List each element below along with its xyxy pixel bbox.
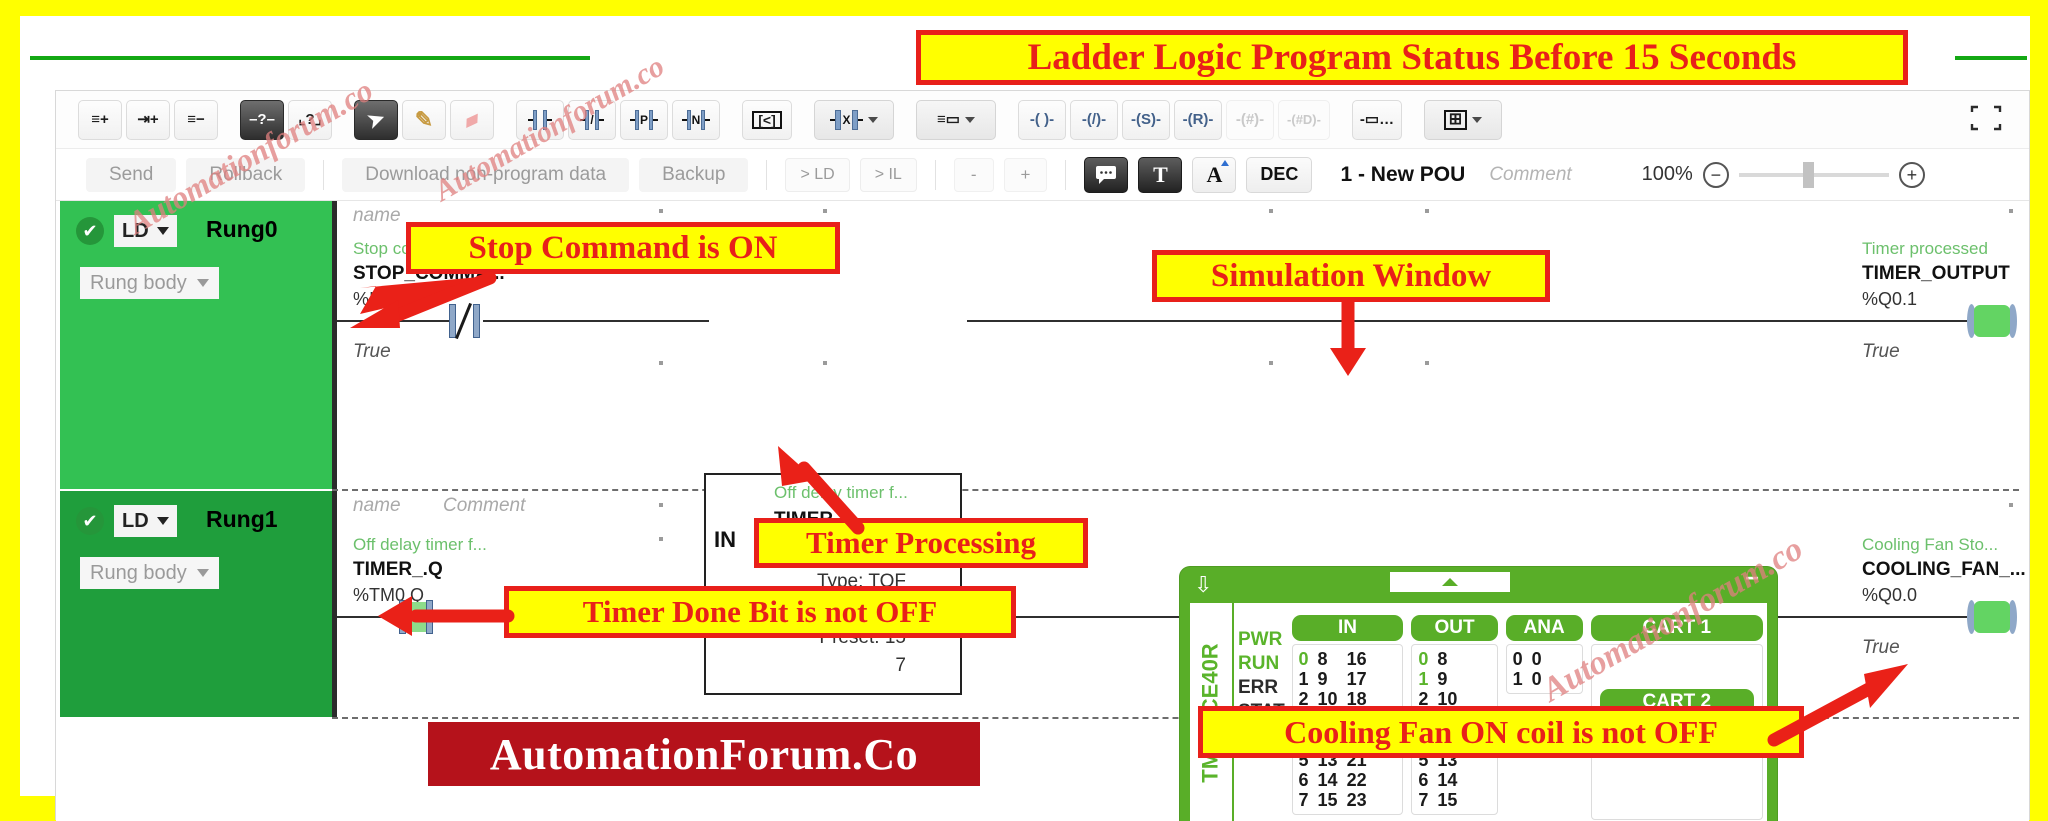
- top-divider-left: [30, 56, 590, 60]
- grid-tick: [659, 503, 663, 507]
- zoom-level-label: 100%: [1642, 163, 1693, 186]
- led-err: ERR: [1238, 677, 1288, 699]
- rung-name-0: Rung0: [206, 216, 278, 243]
- comment-bubble-glyph: [1095, 165, 1117, 185]
- convert-to-ld-button[interactable]: > LD: [785, 158, 849, 192]
- annotation-cooling-fan: Cooling Fan ON coil is not OFF: [1198, 706, 1804, 758]
- rung1-output-state: True: [1862, 637, 1900, 659]
- rung0-wire-left: [337, 320, 449, 322]
- comment-bubble-icon[interactable]: [1084, 157, 1128, 193]
- top-divider-right: [1955, 56, 2027, 60]
- zoom-slider-thumb[interactable]: [1803, 162, 1814, 188]
- in-bit-0[interactable]: 0: [1299, 649, 1309, 669]
- grid-tick: [659, 537, 663, 541]
- select-pointer-glyph: ➤: [365, 107, 388, 132]
- in-bit-23[interactable]: 23: [1347, 790, 1367, 810]
- insert-rung-above-icon[interactable]: ≡+: [78, 100, 122, 140]
- grid-tick: [823, 209, 827, 213]
- rung0-contact-nc[interactable]: [449, 304, 483, 338]
- out-bit-0[interactable]: 0: [1418, 649, 1428, 669]
- toolbar-separator-4: [1065, 160, 1066, 190]
- in-bit-17[interactable]: 17: [1347, 669, 1367, 689]
- out-bit-7[interactable]: 7: [1418, 790, 1428, 810]
- zoom-out-button[interactable]: −: [1703, 162, 1729, 188]
- comparison-block-icon[interactable]: [<]: [742, 100, 792, 140]
- application-canvas: ≡+ ⇥+ ≡− –?– ⌞?⌟ ➤ ✎ ▰: [20, 16, 2030, 796]
- rung-body-selector-1[interactable]: Rung body: [80, 557, 219, 589]
- rung1-output-description: Cooling Fan Sto...: [1862, 535, 1998, 555]
- rung-body-selector-0[interactable]: Rung body: [80, 267, 219, 299]
- contact-variants-dropdown-icon[interactable]: X: [814, 100, 894, 140]
- font-size-icon[interactable]: A: [1192, 157, 1236, 193]
- chevron-down-icon-2[interactable]: [965, 117, 975, 123]
- operation-block-glyph: -▭…: [1360, 112, 1394, 127]
- operation-block-icon[interactable]: -▭…: [1352, 100, 1402, 140]
- rung1-input-symbol: TIMER_.Q: [353, 559, 443, 581]
- rung0-output-description: Timer processed: [1862, 239, 1988, 259]
- timer-description: Off delay timer f...: [774, 483, 908, 503]
- delete-rung-glyph: ≡−: [187, 112, 205, 127]
- annotation-stop-command: Stop Command is ON: [406, 222, 840, 274]
- out-bit-14[interactable]: 14: [1437, 770, 1457, 790]
- coil-set-icon[interactable]: -(S)-: [1122, 100, 1170, 140]
- rung-body-label-0: Rung body: [90, 272, 187, 295]
- out-bit-15[interactable]: 15: [1437, 790, 1457, 810]
- function-block-dropdown-icon[interactable]: ≡▭: [916, 100, 996, 140]
- grid-tick: [659, 361, 663, 365]
- coil-set-glyph: -(S)-: [1131, 112, 1161, 127]
- chevron-down-icon-rungbody1[interactable]: [197, 569, 209, 577]
- collapse-up-glyph: [1442, 578, 1458, 586]
- fullscreen-icon[interactable]: [1969, 103, 2003, 133]
- coil-jump-icon: -(#)-: [1226, 100, 1274, 140]
- coil-icon[interactable]: -( )-: [1018, 100, 1066, 140]
- annotation-simulation-window: Simulation Window: [1152, 250, 1550, 302]
- toolbar-separator-3: [935, 160, 936, 190]
- rung1-output-coil[interactable]: [1967, 600, 2017, 634]
- coil-negated-glyph: -(/)-: [1082, 112, 1106, 127]
- rung0-input-state: True: [353, 341, 391, 363]
- rung-header-1[interactable]: ✔ LD Rung1 Rung body: [60, 491, 332, 717]
- font-size-glyph: A: [1206, 162, 1222, 188]
- coil-call-icon: -(#D)-: [1278, 100, 1330, 140]
- contact-positive-edge-icon[interactable]: P: [620, 100, 668, 140]
- delete-rung-icon[interactable]: ≡−: [174, 100, 218, 140]
- contact-n-glyph: N: [682, 110, 711, 130]
- grid-tick: [2009, 503, 2013, 507]
- timer-in-pin-label: IN: [714, 527, 736, 553]
- rung1-output-address: %Q0.0: [1862, 585, 1917, 606]
- io-column-out-header: OUT: [1411, 615, 1497, 641]
- toolbar-separator-1: [323, 160, 324, 190]
- eraser-icon[interactable]: ▰: [450, 100, 494, 140]
- timer-function-block[interactable]: IN Q Off delay timer f... TIMER_ %TM0 Ty…: [704, 473, 962, 695]
- annotation-timer-processing: Timer Processing: [754, 518, 1088, 568]
- add-element-glyph: ⊞: [1444, 110, 1467, 130]
- coil-call-glyph: -(#D)-: [1287, 113, 1321, 126]
- coil-reset-glyph: -(R)-: [1183, 112, 1214, 127]
- zoom-in-button[interactable]: +: [1899, 162, 1925, 188]
- pencil-draw-icon[interactable]: ✎: [402, 100, 446, 140]
- pou-label: 1 - New POU: [1340, 163, 1465, 187]
- grid-tick: [1269, 209, 1273, 213]
- comparison-block-glyph: [<]: [752, 111, 782, 129]
- coil-glyph: -( )-: [1030, 112, 1054, 127]
- in-bit-14[interactable]: 14: [1318, 770, 1338, 790]
- out-bit-9[interactable]: 9: [1437, 669, 1457, 689]
- rung1-comment-placeholder[interactable]: Comment: [443, 495, 525, 517]
- in-bit-9[interactable]: 9: [1318, 669, 1338, 689]
- contact-x-glyph: X: [830, 110, 862, 130]
- contact-p-glyph: P: [630, 110, 658, 130]
- function-block-glyph: ≡▭: [937, 112, 960, 127]
- pencil-draw-glyph: ✎: [415, 109, 433, 131]
- in-bit-8[interactable]: 8: [1318, 649, 1338, 669]
- grid-tick: [1269, 361, 1273, 365]
- in-bit-15[interactable]: 15: [1318, 790, 1338, 810]
- rung0-name-placeholder[interactable]: name: [353, 205, 401, 227]
- check-circle-icon[interactable]: ✔: [76, 217, 104, 245]
- annotation-timer-done-bit: Timer Done Bit is not OFF: [504, 586, 1016, 638]
- rung-language-selector-1[interactable]: LD: [114, 505, 177, 537]
- led-run: RUN: [1238, 653, 1288, 675]
- rung0-wire-to-coil: [967, 320, 1967, 322]
- chevron-down-icon-3[interactable]: [1472, 117, 1482, 123]
- rung-header-0[interactable]: ✔ LD Rung0 Rung body: [60, 201, 332, 489]
- text-symbol-icon[interactable]: T: [1138, 157, 1182, 193]
- number-base-button[interactable]: DEC: [1246, 157, 1312, 193]
- convert-to-il-button[interactable]: > IL: [860, 158, 917, 192]
- collapse-up-icon[interactable]: [1390, 572, 1510, 592]
- insert-rung-above-glyph: ≡+: [91, 112, 109, 127]
- rung1-contact-no-energized[interactable]: [399, 600, 433, 634]
- grid-tick: [2009, 209, 2013, 213]
- in-bit-7[interactable]: 7: [1299, 790, 1309, 810]
- ana-channel-1[interactable]: 1: [1513, 669, 1523, 689]
- number-base-label: DEC: [1260, 164, 1298, 185]
- pin-icon[interactable]: ⇩: [1194, 572, 1212, 598]
- coil-reset-icon[interactable]: -(R)-: [1174, 100, 1222, 140]
- io-column-in-header: IN: [1292, 615, 1404, 641]
- insert-rung-below-icon[interactable]: ⇥+: [126, 100, 170, 140]
- grid-tick: [1425, 361, 1429, 365]
- insert-rung-below-glyph: ⇥+: [137, 112, 158, 127]
- controller-action-toolbar: Send Rollback Download non-program data …: [56, 149, 2029, 201]
- coil-jump-glyph: -(#)-: [1236, 112, 1264, 127]
- ana-group-0: 0 1: [1513, 649, 1523, 689]
- in-bit-22[interactable]: 22: [1347, 770, 1367, 790]
- rung0-output-symbol: TIMER_OUTPUT: [1862, 263, 2010, 285]
- rung1-input-description: Off delay timer f...: [353, 535, 487, 555]
- coil-negated-icon[interactable]: -(/)-: [1070, 100, 1118, 140]
- out-bit-6[interactable]: 6: [1418, 770, 1428, 790]
- chevron-down-icon-rung1[interactable]: [157, 517, 169, 525]
- in-bit-1[interactable]: 1: [1299, 669, 1309, 689]
- in-bit-6[interactable]: 6: [1299, 770, 1309, 790]
- rung0-output-coil[interactable]: [1967, 304, 2017, 338]
- rung0-wire-to-timer: [483, 320, 709, 322]
- rung0-input-address: %I0.0: [353, 289, 399, 310]
- contact-negative-edge-icon[interactable]: N: [672, 100, 720, 140]
- pou-comment[interactable]: Comment: [1489, 164, 1571, 186]
- rung0-output-state: True: [1862, 341, 1900, 363]
- in-bit-16[interactable]: 16: [1347, 649, 1367, 669]
- rung1-name-placeholder[interactable]: name: [353, 495, 401, 517]
- rung1-output-symbol: COOLING_FAN_...: [1862, 559, 2026, 581]
- chevron-down-icon[interactable]: [868, 117, 878, 123]
- grid-tick: [823, 361, 827, 365]
- annotation-title: Ladder Logic Program Status Before 15 Se…: [916, 30, 1908, 85]
- backup-button[interactable]: Backup: [639, 158, 748, 192]
- ana-value-0[interactable]: 0: [1532, 649, 1542, 669]
- toolbar-separator-2: [766, 160, 767, 190]
- io-column-ana-header: ANA: [1506, 615, 1583, 641]
- ana-channel-0[interactable]: 0: [1513, 649, 1523, 669]
- collapse-all-button[interactable]: -: [954, 158, 994, 192]
- out-bit-8[interactable]: 8: [1437, 649, 1457, 669]
- zoom-control: 100% − +: [1642, 162, 1925, 188]
- check-circle-icon-2[interactable]: ✔: [76, 507, 104, 535]
- rung-body-label-1: Rung body: [90, 562, 187, 585]
- rung-name-1: Rung1: [206, 506, 278, 533]
- rung1-wire-left: [337, 616, 399, 618]
- led-pwr: PWR: [1238, 629, 1288, 651]
- brand-banner: AutomationForum.Co: [428, 722, 980, 786]
- chevron-down-icon-rungbody0[interactable]: [197, 279, 209, 287]
- timer-elapsed-value: 7: [895, 655, 906, 677]
- rung0-output-address: %Q0.1: [1862, 289, 1917, 310]
- expand-all-button[interactable]: +: [1004, 158, 1048, 192]
- eraser-glyph: ▰: [461, 107, 483, 132]
- out-bit-1[interactable]: 1: [1418, 669, 1428, 689]
- grid-tick: [659, 209, 663, 213]
- rung-row-0[interactable]: ✔ LD Rung0 Rung body name Stop com: [56, 201, 2029, 489]
- grid-tick: [1425, 209, 1429, 213]
- zoom-slider-track[interactable]: [1739, 173, 1889, 177]
- rung-language-label-1: LD: [122, 510, 149, 533]
- text-symbol-glyph: T: [1153, 162, 1168, 188]
- add-element-dropdown-icon[interactable]: ⊞: [1424, 100, 1502, 140]
